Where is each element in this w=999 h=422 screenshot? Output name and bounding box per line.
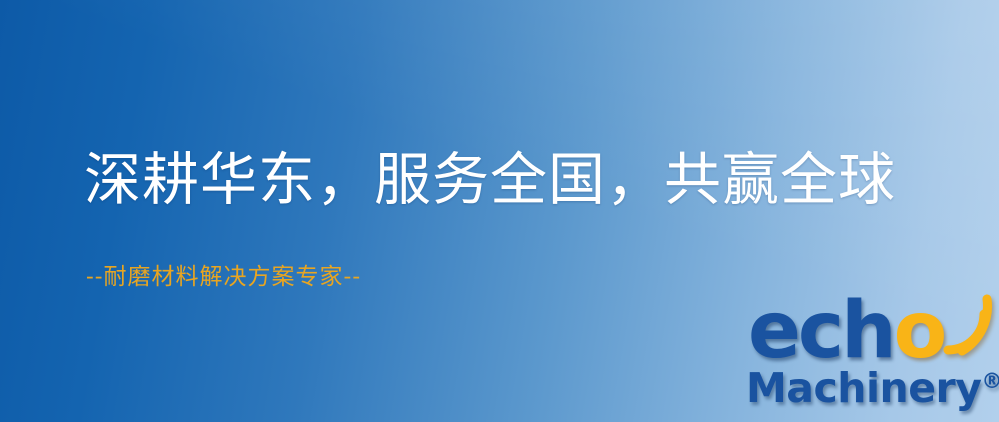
logo-echo-prefix: ech <box>748 286 894 376</box>
logo-company-text: Machinery <box>746 364 981 412</box>
logo-echo-text: echo <box>748 292 944 370</box>
company-logo: echo Machinery® <box>742 296 999 422</box>
logo-wordmark: echo <box>742 296 999 370</box>
banner-headline: 深耕华东，服务全国，共赢全球 <box>84 152 896 209</box>
registered-trademark-icon: ® <box>981 369 999 393</box>
logo-company-name: Machinery® <box>746 368 999 409</box>
promotional-banner: 深耕华东，服务全国，共赢全球 --耐磨材料解决方案专家-- echo Machi… <box>0 0 999 422</box>
signal-arcs-icon <box>928 294 994 358</box>
banner-subtitle: --耐磨材料解决方案专家-- <box>86 266 361 289</box>
